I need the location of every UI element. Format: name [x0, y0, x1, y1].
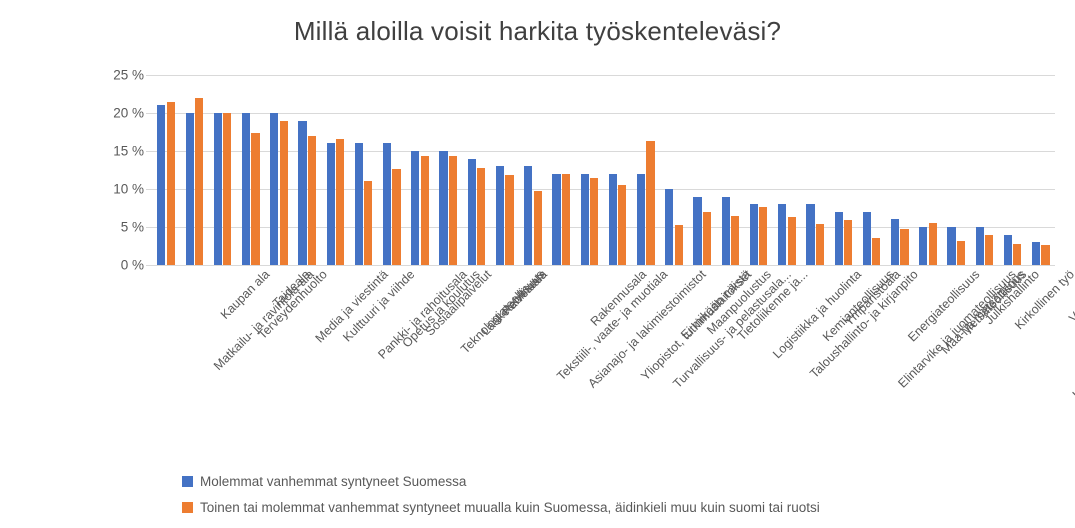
legend-item[interactable]: Toinen tai molemmat vanhemmat syntyneet …	[182, 494, 1062, 520]
bar[interactable]	[900, 229, 908, 265]
bar[interactable]	[703, 212, 711, 265]
bar-group	[745, 75, 773, 265]
bar[interactable]	[157, 105, 165, 265]
bar[interactable]	[844, 220, 852, 265]
plot-area	[152, 75, 1055, 265]
x-axis-labels: Matkailu- ja ravintola-alaKaupan alaTerv…	[0, 268, 1075, 468]
bar[interactable]	[788, 217, 796, 265]
bar[interactable]	[223, 113, 231, 265]
bar[interactable]	[270, 113, 278, 265]
bar[interactable]	[195, 98, 203, 265]
y-axis-tick-label: 5 %	[96, 220, 144, 235]
legend-color-swatch	[182, 476, 193, 487]
bar[interactable]	[835, 212, 843, 265]
bar-group	[660, 75, 688, 265]
bar[interactable]	[477, 168, 485, 265]
legend-item[interactable]: Molemmat vanhemmat syntyneet Suomessa	[182, 468, 1062, 494]
bar[interactable]	[505, 175, 513, 265]
bar[interactable]	[590, 178, 598, 265]
bar-group	[237, 75, 265, 265]
bar-group	[152, 75, 180, 265]
bar[interactable]	[411, 151, 419, 265]
bar[interactable]	[534, 191, 542, 265]
bar[interactable]	[355, 143, 363, 265]
chart-legend: Molemmat vanhemmat syntyneet SuomessaToi…	[182, 468, 1062, 520]
bar-group	[999, 75, 1027, 265]
bar[interactable]	[816, 224, 824, 265]
bar[interactable]	[214, 113, 222, 265]
bar[interactable]	[449, 156, 457, 265]
bar[interactable]	[242, 113, 250, 265]
bar-group	[575, 75, 603, 265]
bar[interactable]	[383, 143, 391, 265]
bar[interactable]	[336, 139, 344, 265]
bar-group	[208, 75, 236, 265]
bar-group	[604, 75, 632, 265]
bar[interactable]	[298, 121, 306, 265]
bar-group	[547, 75, 575, 265]
bar[interactable]	[186, 113, 194, 265]
bar[interactable]	[251, 133, 259, 265]
bar-group	[350, 75, 378, 265]
bar[interactable]	[806, 204, 814, 265]
bar[interactable]	[976, 227, 984, 265]
bar[interactable]	[581, 174, 589, 265]
bar[interactable]	[665, 189, 673, 265]
bar-group	[801, 75, 829, 265]
bar-group	[942, 75, 970, 265]
y-axis-labels: 0 %5 %10 %15 %20 %25 %	[96, 75, 144, 265]
bar[interactable]	[693, 197, 701, 265]
bar[interactable]	[872, 238, 880, 265]
bar[interactable]	[637, 174, 645, 265]
bar-group	[293, 75, 321, 265]
bar[interactable]	[327, 143, 335, 265]
bar-group	[434, 75, 462, 265]
x-axis-tick-label: Taloushallinto- ja kirjanpito	[808, 268, 921, 381]
bar-group	[688, 75, 716, 265]
bar-group	[1027, 75, 1055, 265]
bar[interactable]	[562, 174, 570, 265]
legend-color-swatch	[182, 502, 193, 513]
bar[interactable]	[1041, 245, 1049, 265]
bar[interactable]	[524, 166, 532, 265]
x-axis-tick-label: Palveluala	[499, 268, 549, 318]
y-axis-tick-label: 25 %	[96, 68, 144, 83]
bar[interactable]	[1004, 235, 1012, 265]
bar-group	[180, 75, 208, 265]
bar-group	[462, 75, 490, 265]
bar[interactable]	[1032, 242, 1040, 265]
bar[interactable]	[863, 212, 871, 265]
bar-group	[378, 75, 406, 265]
bar-group	[406, 75, 434, 265]
bar[interactable]	[468, 159, 476, 265]
bar[interactable]	[308, 136, 316, 265]
bar[interactable]	[985, 235, 993, 265]
y-axis-tick-label: 10 %	[96, 182, 144, 197]
legend-label: Toinen tai molemmat vanhemmat syntyneet …	[200, 500, 820, 515]
bar[interactable]	[421, 156, 429, 265]
legend-label: Molemmat vanhemmat syntyneet Suomessa	[200, 474, 466, 489]
bar-group	[829, 75, 857, 265]
bar-group	[519, 75, 547, 265]
bar[interactable]	[646, 141, 654, 265]
bar[interactable]	[722, 197, 730, 265]
bar[interactable]	[552, 174, 560, 265]
bar[interactable]	[439, 151, 447, 265]
bar[interactable]	[919, 227, 927, 265]
bar-group	[886, 75, 914, 265]
bar[interactable]	[1013, 244, 1021, 265]
bar-group	[970, 75, 998, 265]
bar[interactable]	[750, 204, 758, 265]
bar[interactable]	[609, 174, 617, 265]
bar-group	[914, 75, 942, 265]
bar-group	[632, 75, 660, 265]
chart-container: Millä aloilla voisit harkita työskentele…	[0, 0, 1075, 528]
bar[interactable]	[675, 225, 683, 265]
y-axis-tick-label: 15 %	[96, 144, 144, 159]
bar-group	[716, 75, 744, 265]
x-axis-tick-label: Kiinteistöalan palvelut ja siivous	[1070, 268, 1075, 402]
bar[interactable]	[929, 223, 937, 265]
chart-title: Millä aloilla voisit harkita työskentele…	[0, 16, 1075, 47]
bar[interactable]	[957, 241, 965, 265]
bar-group	[491, 75, 519, 265]
gridline	[152, 265, 1055, 266]
bar[interactable]	[496, 166, 504, 265]
bar[interactable]	[618, 185, 626, 265]
bar-group	[265, 75, 293, 265]
bar-group	[773, 75, 801, 265]
bar[interactable]	[759, 207, 767, 265]
y-axis-tick-label: 20 %	[96, 106, 144, 121]
bar[interactable]	[364, 181, 372, 265]
bar[interactable]	[947, 227, 955, 265]
bars-layer	[152, 75, 1055, 265]
bar[interactable]	[392, 169, 400, 265]
bar[interactable]	[891, 219, 899, 265]
bar-group	[321, 75, 349, 265]
bar[interactable]	[280, 121, 288, 265]
bar[interactable]	[778, 204, 786, 265]
bar-group	[857, 75, 885, 265]
bar[interactable]	[167, 102, 175, 265]
bar[interactable]	[731, 216, 739, 265]
